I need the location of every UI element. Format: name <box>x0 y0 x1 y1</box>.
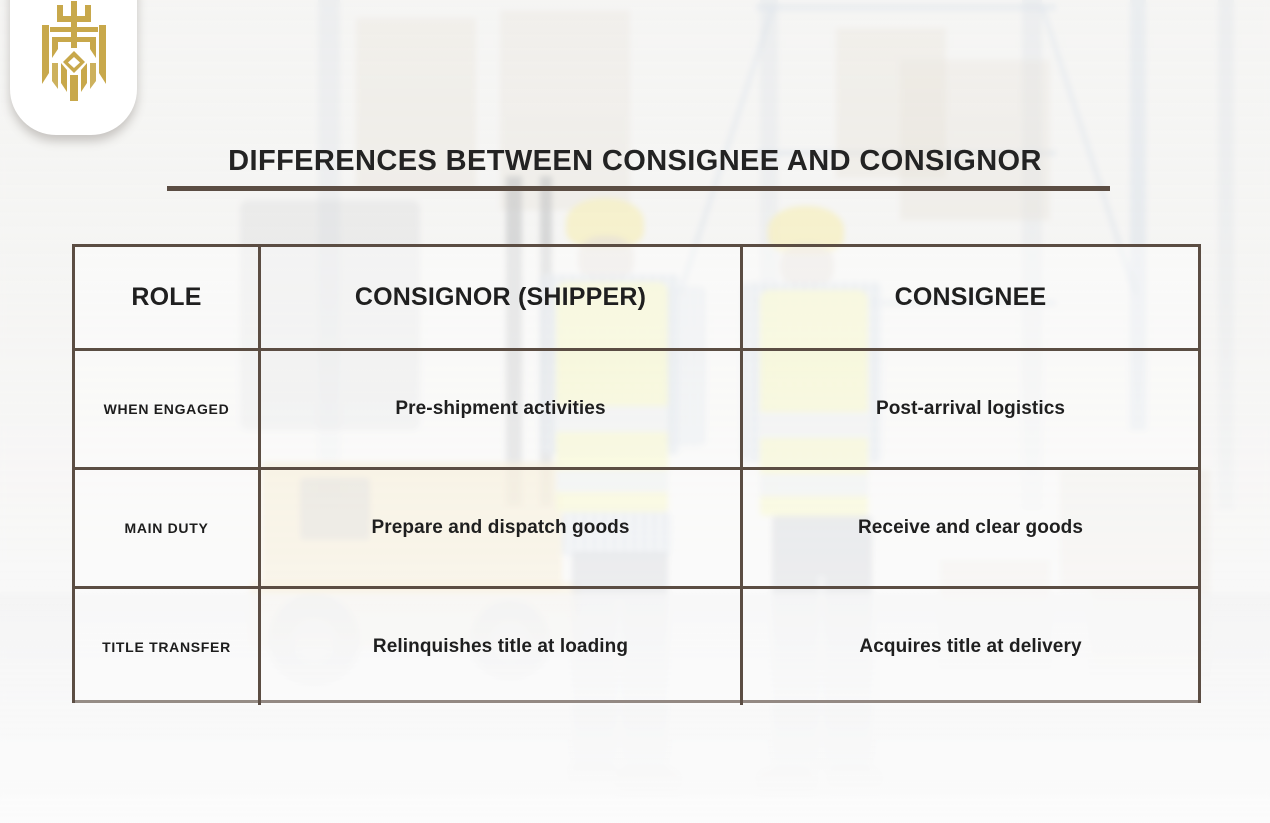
row-label-cell: MAIN DUTY <box>75 470 261 586</box>
row-consignor-cell: Prepare and dispatch goods <box>261 470 743 586</box>
header-cell-consignee: CONSIGNEE <box>743 247 1198 348</box>
page-title: DIFFERENCES BETWEEN CONSIGNEE AND CONSIG… <box>0 145 1270 178</box>
row-consignee-cell: Receive and clear goods <box>743 470 1198 586</box>
header-cell-role: ROLE <box>75 247 261 348</box>
header-label-consignee: CONSIGNEE <box>895 283 1047 312</box>
title-underline <box>167 186 1110 191</box>
row-label: TITLE TRANSFER <box>102 639 231 655</box>
header-label-role: ROLE <box>131 283 201 312</box>
brand-logo-card <box>10 0 137 135</box>
table-row: TITLE TRANSFER Relinquishes title at loa… <box>75 586 1198 705</box>
shield-crest-logo-icon <box>28 1 120 101</box>
row-consignor-value: Relinquishes title at loading <box>373 636 628 658</box>
header-cell-consignor: CONSIGNOR (SHIPPER) <box>261 247 743 348</box>
row-consignor-cell: Relinquishes title at loading <box>261 589 743 705</box>
row-consignor-value: Prepare and dispatch goods <box>371 517 629 539</box>
row-label-cell: WHEN ENGAGED <box>75 351 261 467</box>
row-consignee-value: Post-arrival logistics <box>876 398 1065 420</box>
table-header-row: ROLE CONSIGNOR (SHIPPER) CONSIGNEE <box>75 247 1198 348</box>
row-consignor-cell: Pre-shipment activities <box>261 351 743 467</box>
table-row: MAIN DUTY Prepare and dispatch goods Rec… <box>75 467 1198 586</box>
infographic-page: DIFFERENCES BETWEEN CONSIGNEE AND CONSIG… <box>0 0 1270 823</box>
row-consignee-value: Acquires title at delivery <box>859 636 1081 658</box>
row-label: WHEN ENGAGED <box>104 401 230 417</box>
row-consignor-value: Pre-shipment activities <box>395 398 605 420</box>
row-consignee-cell: Post-arrival logistics <box>743 351 1198 467</box>
row-consignee-value: Receive and clear goods <box>858 517 1083 539</box>
row-consignee-cell: Acquires title at delivery <box>743 589 1198 705</box>
row-label-cell: TITLE TRANSFER <box>75 589 261 705</box>
comparison-table: ROLE CONSIGNOR (SHIPPER) CONSIGNEE WHEN … <box>72 244 1201 703</box>
header-label-consignor: CONSIGNOR (SHIPPER) <box>355 283 646 312</box>
table-row: WHEN ENGAGED Pre-shipment activities Pos… <box>75 348 1198 467</box>
row-label: MAIN DUTY <box>124 520 208 536</box>
